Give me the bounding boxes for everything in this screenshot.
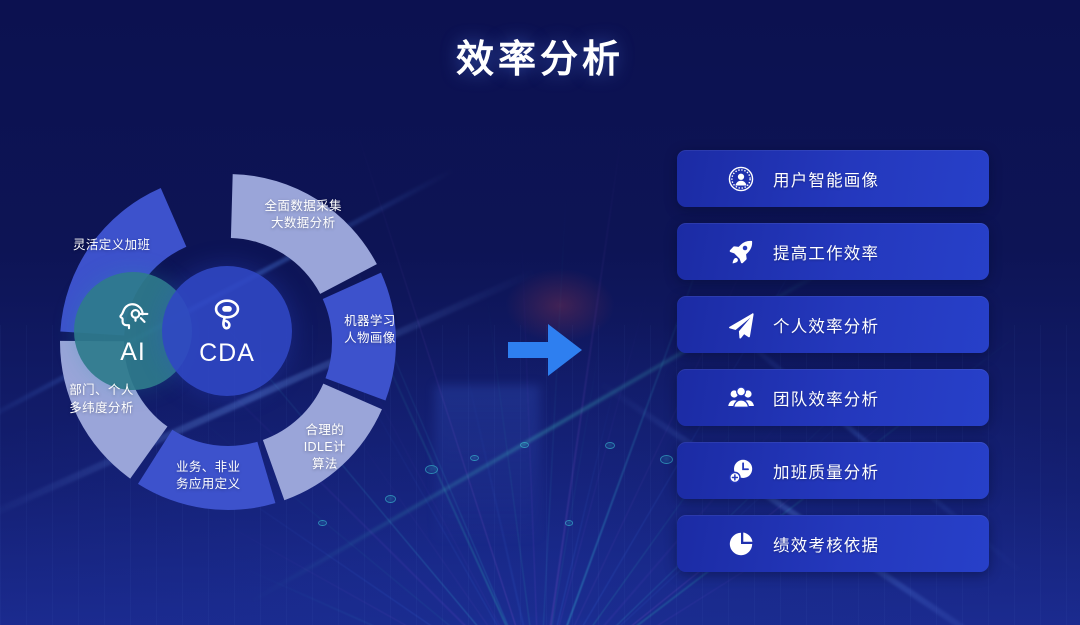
feature-card-label: 绩效考核依据 [773, 532, 879, 556]
feature-card[interactable]: 个人效率分析 [677, 296, 989, 353]
paper-plane-icon [727, 311, 755, 339]
donut-segment[interactable] [263, 384, 382, 501]
user-badge-icon [727, 165, 755, 193]
feature-card[interactable]: 用户智能画像 [677, 150, 989, 207]
page-title: 效率分析 [0, 28, 1080, 83]
ai-head-icon [113, 296, 153, 336]
donut-diagram: AI CDA 全面数据采集 大数据分析机器学习 人物画像合理的 IDLE计 算法… [58, 132, 398, 552]
venn-label-cda: CDA [199, 339, 255, 368]
team-people-icon [727, 384, 755, 412]
cda-bot-icon [206, 295, 248, 337]
feature-card-list: 用户智能画像提高工作效率个人效率分析团队效率分析加班质量分析绩效考核依据 [677, 150, 989, 572]
rocket-icon [727, 238, 755, 266]
feature-card-label: 个人效率分析 [773, 313, 879, 337]
feature-card[interactable]: 绩效考核依据 [677, 515, 989, 572]
venn-label-ai: AI [120, 338, 146, 367]
donut-segment[interactable] [323, 273, 396, 401]
feature-card-label: 用户智能画像 [773, 167, 879, 191]
pie-chart-icon [727, 530, 755, 558]
feature-card[interactable]: 加班质量分析 [677, 442, 989, 499]
clock-icon [727, 457, 755, 485]
feature-card-label: 提高工作效率 [773, 240, 879, 264]
right-arrow-icon [508, 322, 582, 378]
donut-segment[interactable] [138, 430, 275, 510]
venn-circle-cda[interactable]: CDA [162, 266, 292, 396]
feature-card-label: 加班质量分析 [773, 459, 879, 483]
feature-card-label: 团队效率分析 [773, 386, 879, 410]
feature-card[interactable]: 团队效率分析 [677, 369, 989, 426]
feature-card[interactable]: 提高工作效率 [677, 223, 989, 280]
